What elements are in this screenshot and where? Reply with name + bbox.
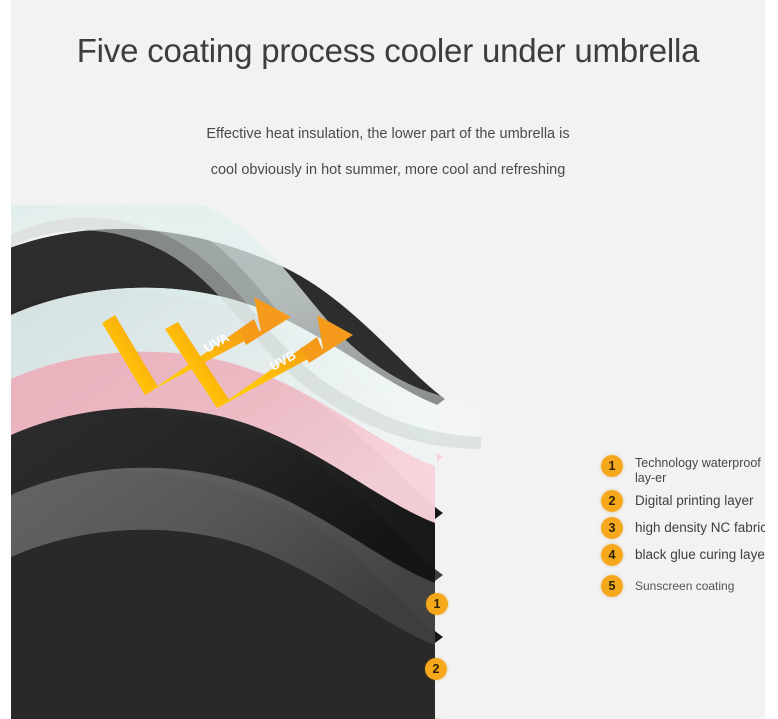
legend-badge-4: 4: [601, 544, 623, 566]
layer-marker-2[interactable]: 2: [425, 658, 447, 680]
legend-badge-2: 2: [601, 490, 623, 512]
legend-badge-3: 3: [601, 517, 623, 539]
subtitle-line-1: Effective heat insulation, the lower par…: [11, 116, 765, 152]
layer-stack-illustration: UVA UVB 1 2 3 4 5 1 Technology: [11, 205, 765, 719]
legend-label-3: high density NC fabric: [635, 517, 765, 539]
legend-item-4: 4 black glue curing layer: [589, 544, 765, 566]
legend-item-5: 5 Sunscreen coating: [589, 575, 765, 597]
content-panel: Five coating process cooler under umbrel…: [11, 0, 765, 719]
legend-label-2: Digital printing layer: [635, 490, 765, 512]
legend-item-2: 2 Digital printing layer: [589, 490, 765, 512]
page-title: Five coating process cooler under umbrel…: [11, 27, 765, 75]
legend-badge-1: 1: [601, 455, 623, 477]
subtitle-line-2: cool obviously in hot summer, more cool …: [11, 152, 765, 188]
legend-item-3: 3 high density NC fabric: [589, 517, 765, 539]
subtitle-block: Effective heat insulation, the lower par…: [11, 116, 765, 188]
layer-marker-1[interactable]: 1: [426, 593, 448, 615]
legend-item-1: 1 Technology waterproof lay-er: [589, 455, 765, 486]
legend-label-5: Sunscreen coating: [635, 575, 765, 597]
header-block: Five coating process cooler under umbrel…: [11, 0, 765, 205]
product-feature-page: Five coating process cooler under umbrel…: [0, 0, 778, 719]
legend-badge-5: 5: [601, 575, 623, 597]
legend-label-1: Technology waterproof lay-er: [635, 455, 765, 486]
legend-label-4: black glue curing layer: [635, 544, 765, 566]
